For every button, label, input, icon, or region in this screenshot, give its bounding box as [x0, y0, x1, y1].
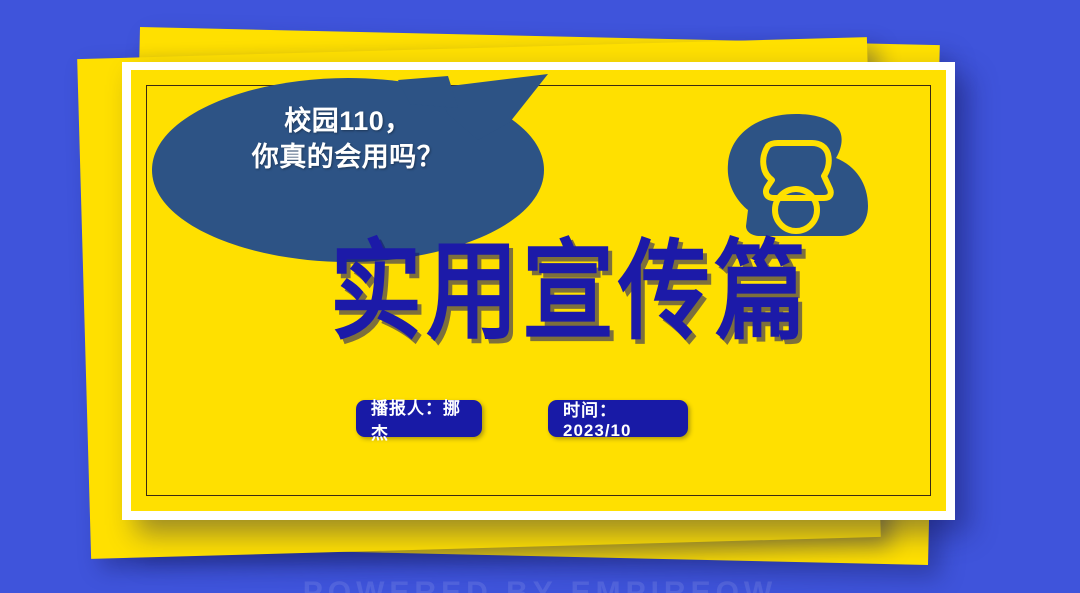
- page-title: 实用宣传篇: [330, 238, 810, 347]
- presenter-badge: 播报人：挪杰: [356, 400, 482, 437]
- date-badge: 时间：2023/10: [548, 400, 688, 437]
- poster-canvas: 校园110， 你真的会用吗？ 实用宣传篇 播报人：挪杰 时间：2023/10 P…: [0, 0, 1080, 593]
- rotary-telephone-icon: [716, 110, 876, 238]
- watermark-text: POWERED BY EMPIREOW: [0, 576, 1080, 593]
